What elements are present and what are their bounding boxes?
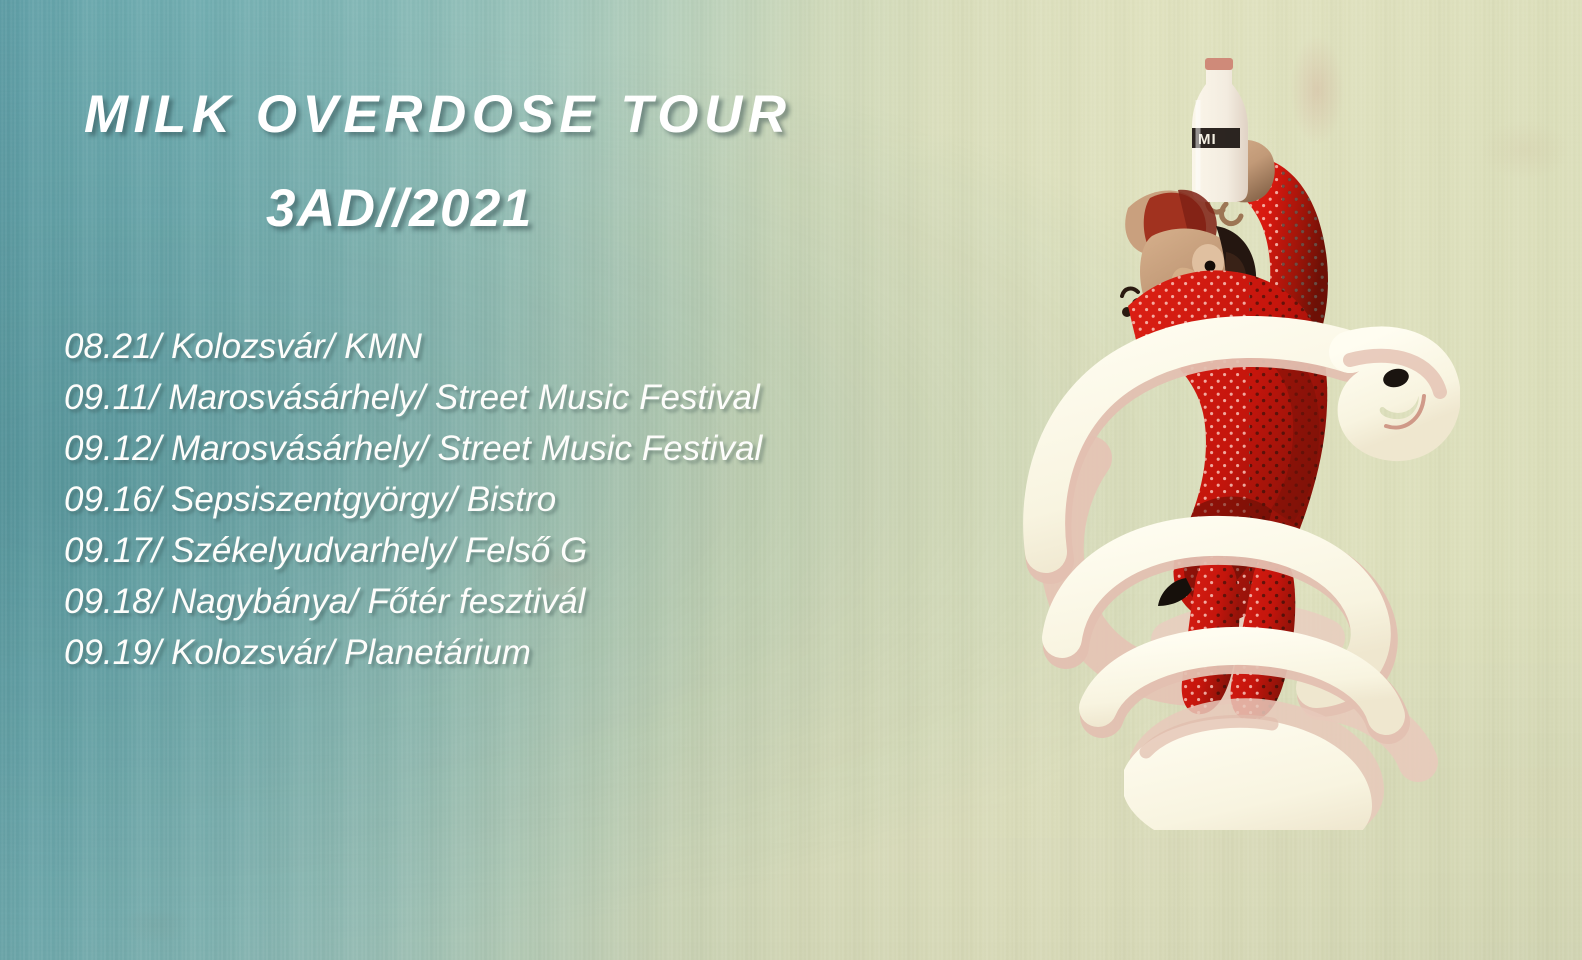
list-item: 09.16/ Sepsiszentgyörgy/ Bistro xyxy=(64,474,762,525)
list-item: 09.18/ Nagybánya/ Főtér fesztivál xyxy=(64,576,762,627)
list-item: 09.17/ Székelyudvarhely/ Felső G xyxy=(64,525,762,576)
list-item: 08.21/ Kolozsvár/ KMN xyxy=(64,321,762,372)
svg-text:MI: MI xyxy=(1198,131,1217,148)
milk-bottle: MI xyxy=(1192,58,1248,202)
list-item: 09.11/ Marosvásárhely/ Street Music Fest… xyxy=(64,372,762,423)
jester-milk-illustration: MI xyxy=(1020,40,1460,830)
list-item: 09.12/ Marosvásárhely/ Street Music Fest… xyxy=(64,423,762,474)
page-title: MILK OVERDOSE TOUR xyxy=(84,84,792,145)
tour-date-list: 08.21/ Kolozsvár/ KMN 09.11/ Marosvásárh… xyxy=(64,321,762,678)
page-subtitle: 3AD//2021 xyxy=(266,178,533,239)
tour-poster: MILK OVERDOSE TOUR 3AD//2021 08.21/ Kolo… xyxy=(0,0,1582,960)
list-item: 09.19/ Kolozsvár/ Planetárium xyxy=(64,627,762,678)
